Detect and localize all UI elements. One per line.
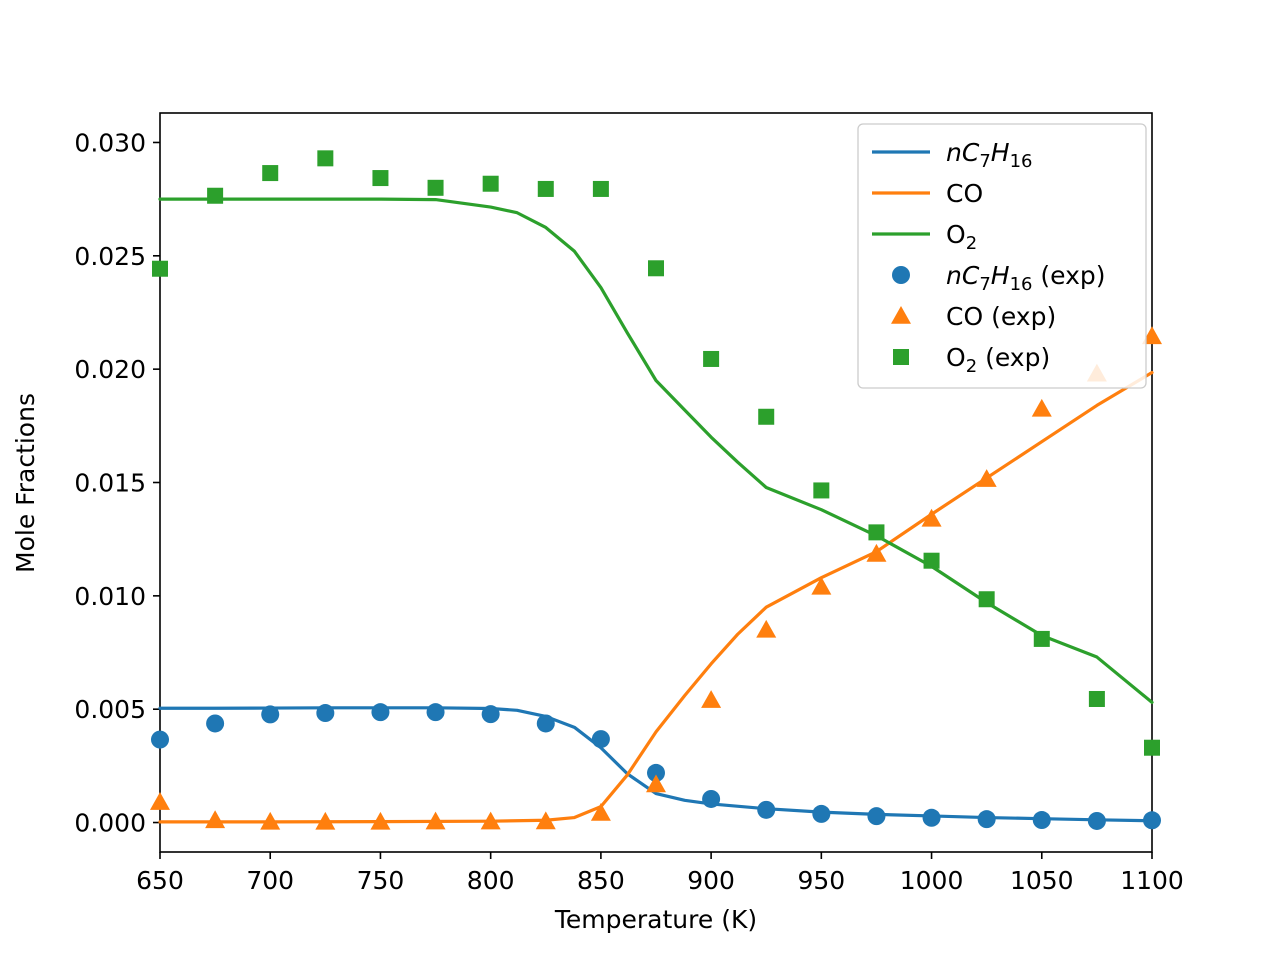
data-point-marker	[1033, 811, 1051, 829]
figure-canvas: 6507007508008509009501000105011000.0000.…	[0, 0, 1280, 960]
data-point-marker	[978, 810, 996, 828]
data-point-marker	[592, 730, 610, 748]
data-point-marker	[538, 181, 554, 197]
data-point-marker	[593, 181, 609, 197]
legend-item-label: O2 (exp)	[946, 343, 1050, 377]
data-point-marker	[813, 482, 829, 498]
x-tick-label: 650	[136, 866, 184, 895]
data-point-marker	[317, 150, 333, 166]
y-tick-label: 0.010	[74, 582, 146, 611]
data-point-marker	[758, 409, 774, 425]
data-point-marker	[1034, 631, 1050, 647]
y-tick-label: 0.030	[74, 128, 146, 157]
x-tick-label: 950	[797, 866, 845, 895]
data-point-marker	[152, 261, 168, 277]
data-point-marker	[1088, 812, 1106, 830]
data-point-marker	[648, 260, 664, 276]
data-point-marker	[1089, 691, 1105, 707]
data-point-marker	[923, 809, 941, 827]
x-tick-label: 700	[246, 866, 294, 895]
data-point-marker	[702, 790, 720, 808]
data-point-marker	[372, 170, 388, 186]
data-point-marker	[206, 714, 224, 732]
x-axis-title: Temperature (K)	[554, 905, 757, 934]
data-point-marker	[261, 705, 279, 723]
y-tick-label: 0.015	[74, 469, 146, 498]
data-point-marker	[151, 731, 169, 749]
data-point-marker	[482, 705, 500, 723]
data-point-marker	[262, 165, 278, 181]
data-point-marker	[812, 805, 830, 823]
y-tick-label: 0.005	[74, 695, 146, 724]
data-point-marker	[207, 188, 223, 204]
data-point-marker	[757, 801, 775, 819]
chart-plot: 6507007508008509009501000105011000.0000.…	[0, 0, 1280, 960]
data-point-marker	[868, 524, 884, 540]
data-point-marker	[924, 553, 940, 569]
data-point-marker	[703, 351, 719, 367]
y-tick-label: 0.025	[74, 242, 146, 271]
x-tick-label: 850	[577, 866, 625, 895]
x-tick-label: 900	[687, 866, 735, 895]
data-point-marker	[427, 703, 445, 721]
x-tick-label: 750	[357, 866, 405, 895]
y-tick-label: 0.020	[74, 355, 146, 384]
legend-marker-swatch	[892, 266, 910, 284]
y-tick-label: 0.000	[74, 809, 146, 838]
x-tick-label: 1000	[900, 866, 964, 895]
data-point-marker	[979, 591, 995, 607]
data-point-marker	[483, 176, 499, 192]
chart-legend: nC7H16COO2nC7H16 (exp)CO (exp)O2 (exp)	[858, 124, 1146, 388]
data-point-marker	[867, 807, 885, 825]
data-point-marker	[1143, 811, 1161, 829]
legend-marker-swatch	[893, 349, 909, 365]
y-axis-title: Mole Fractions	[11, 393, 40, 573]
data-point-marker	[1144, 740, 1160, 756]
legend-item-label: CO (exp)	[946, 302, 1056, 331]
x-tick-label: 800	[467, 866, 515, 895]
data-point-marker	[428, 180, 444, 196]
data-point-marker	[316, 704, 334, 722]
legend-item-label: CO	[946, 179, 983, 208]
data-point-marker	[371, 703, 389, 721]
x-tick-label: 1050	[1010, 866, 1074, 895]
x-tick-label: 1100	[1120, 866, 1184, 895]
data-point-marker	[537, 714, 555, 732]
